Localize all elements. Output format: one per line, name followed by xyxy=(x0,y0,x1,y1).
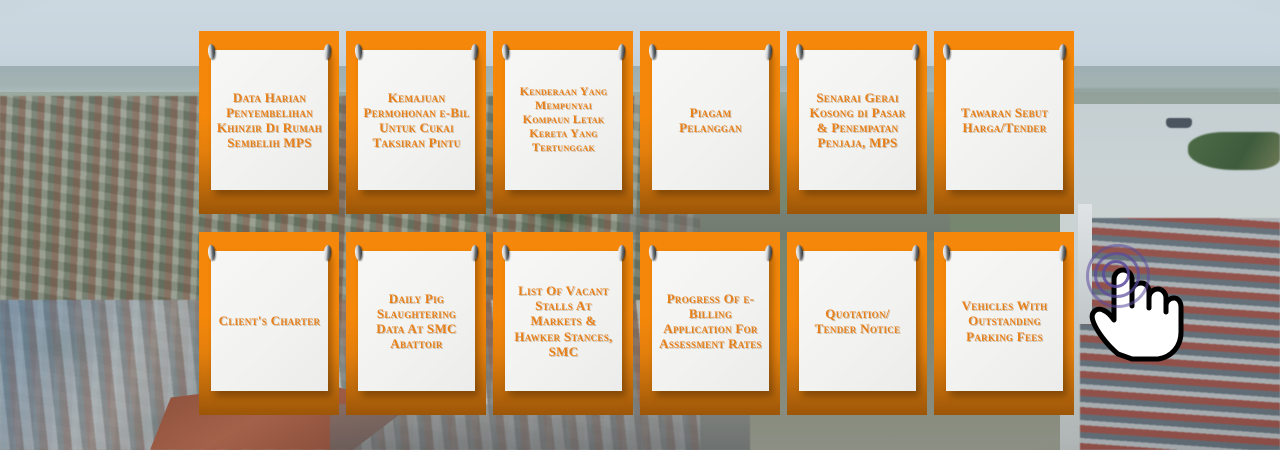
pushpin-icon-right xyxy=(323,245,331,260)
pushpin-icon-left xyxy=(942,245,950,260)
pushpin-icon-right xyxy=(911,44,919,59)
tile-data-harian-penyembelihan[interactable]: Data Harian Penyembelihan Khinzir Di Rum… xyxy=(199,31,339,214)
tile-title: Quotation/ Tender Notice xyxy=(804,306,911,336)
pushpin-icon-right xyxy=(1058,245,1066,260)
pushpin-icon-right xyxy=(1058,44,1066,59)
pushpin-icon-right xyxy=(470,44,478,59)
tile-title: Progress Of e-Billing Application For As… xyxy=(657,291,764,351)
tile-card: Kemajuan Permohonan e-Bil Untuk Cukai Ta… xyxy=(358,50,475,190)
tile-title: Piagam Pelanggan xyxy=(657,105,764,135)
tile-row-2: Client's Charter Daily Pig Slaughtering … xyxy=(199,232,1078,415)
pushpin-icon-left xyxy=(501,245,509,260)
tile-title: Vehicles With Outstanding Parking Fees xyxy=(951,298,1058,343)
pushpin-icon-left xyxy=(648,44,656,59)
pushpin-icon-left xyxy=(354,44,362,59)
tile-progress-of-ebilling-application[interactable]: Progress Of e-Billing Application For As… xyxy=(640,232,780,415)
tile-tawaran-sebut-harga-tender[interactable]: Tawaran Sebut Harga/Tender xyxy=(934,31,1074,214)
tile-card: Kenderaan Yang Mempunyai Kompaun Letak K… xyxy=(505,50,622,190)
tile-card: Piagam Pelanggan xyxy=(652,50,769,190)
pushpin-icon-right xyxy=(764,44,772,59)
tile-title: Senarai Gerai Kosong di Pasar & Penempat… xyxy=(804,90,911,150)
tile-card: Daily Pig Slaughtering Data At SMC Abatt… xyxy=(358,251,475,391)
pushpin-icon-right xyxy=(470,245,478,260)
tile-card: Tawaran Sebut Harga/Tender xyxy=(946,50,1063,190)
tile-list-of-vacant-stalls[interactable]: List Of Vacant Stalls At Markets & Hawke… xyxy=(493,232,633,415)
tile-card: Data Harian Penyembelihan Khinzir Di Rum… xyxy=(211,50,328,190)
tile-title: Daily Pig Slaughtering Data At SMC Abatt… xyxy=(363,291,470,351)
tile-piagam-pelanggan[interactable]: Piagam Pelanggan xyxy=(640,31,780,214)
pushpin-icon-right xyxy=(617,44,625,59)
tile-card: Progress Of e-Billing Application For As… xyxy=(652,251,769,391)
pushpin-icon-left xyxy=(207,245,215,260)
tile-title: List Of Vacant Stalls At Markets & Hawke… xyxy=(510,283,617,358)
pushpin-icon-left xyxy=(648,245,656,260)
tile-kenderaan-kompaun-letak-kereta[interactable]: Kenderaan Yang Mempunyai Kompaun Letak K… xyxy=(493,31,633,214)
pushpin-icon-right xyxy=(764,245,772,260)
tile-card: List Of Vacant Stalls At Markets & Hawke… xyxy=(505,251,622,391)
pushpin-icon-right xyxy=(323,44,331,59)
tile-title: Kenderaan Yang Mempunyai Kompaun Letak K… xyxy=(510,85,617,155)
tile-senarai-gerai-kosong[interactable]: Senarai Gerai Kosong di Pasar & Penempat… xyxy=(787,31,927,214)
pushpin-icon-left xyxy=(942,44,950,59)
tile-title: Kemajuan Permohonan e-Bil Untuk Cukai Ta… xyxy=(363,90,470,150)
pushpin-icon-right xyxy=(617,245,625,260)
pushpin-icon-left xyxy=(501,44,509,59)
tile-vehicles-outstanding-parking-fees[interactable]: Vehicles With Outstanding Parking Fees xyxy=(934,232,1074,415)
tile-card: Quotation/ Tender Notice xyxy=(799,251,916,391)
tile-title: Client's Charter xyxy=(216,313,323,328)
tile-clients-charter[interactable]: Client's Charter xyxy=(199,232,339,415)
pushpin-icon-left xyxy=(795,245,803,260)
tile-row-1: Data Harian Penyembelihan Khinzir Di Rum… xyxy=(199,31,1078,214)
pushpin-icon-left xyxy=(207,44,215,59)
tile-daily-pig-slaughtering-data[interactable]: Daily Pig Slaughtering Data At SMC Abatt… xyxy=(346,232,486,415)
tile-quotation-tender-notice[interactable]: Quotation/ Tender Notice xyxy=(787,232,927,415)
tile-card: Vehicles With Outstanding Parking Fees xyxy=(946,251,1063,391)
tile-title: Data Harian Penyembelihan Khinzir Di Rum… xyxy=(216,90,323,150)
tile-kemajuan-permohonan-ebil[interactable]: Kemajuan Permohonan e-Bil Untuk Cukai Ta… xyxy=(346,31,486,214)
tile-grid: Data Harian Penyembelihan Khinzir Di Rum… xyxy=(199,31,1078,421)
pushpin-icon-right xyxy=(911,245,919,260)
tile-card: Client's Charter xyxy=(211,251,328,391)
pushpin-icon-left xyxy=(354,245,362,260)
pushpin-icon-left xyxy=(795,44,803,59)
tile-card: Senarai Gerai Kosong di Pasar & Penempat… xyxy=(799,50,916,190)
tile-title: Tawaran Sebut Harga/Tender xyxy=(951,105,1058,135)
page-root: Data Harian Penyembelihan Khinzir Di Rum… xyxy=(0,0,1280,450)
